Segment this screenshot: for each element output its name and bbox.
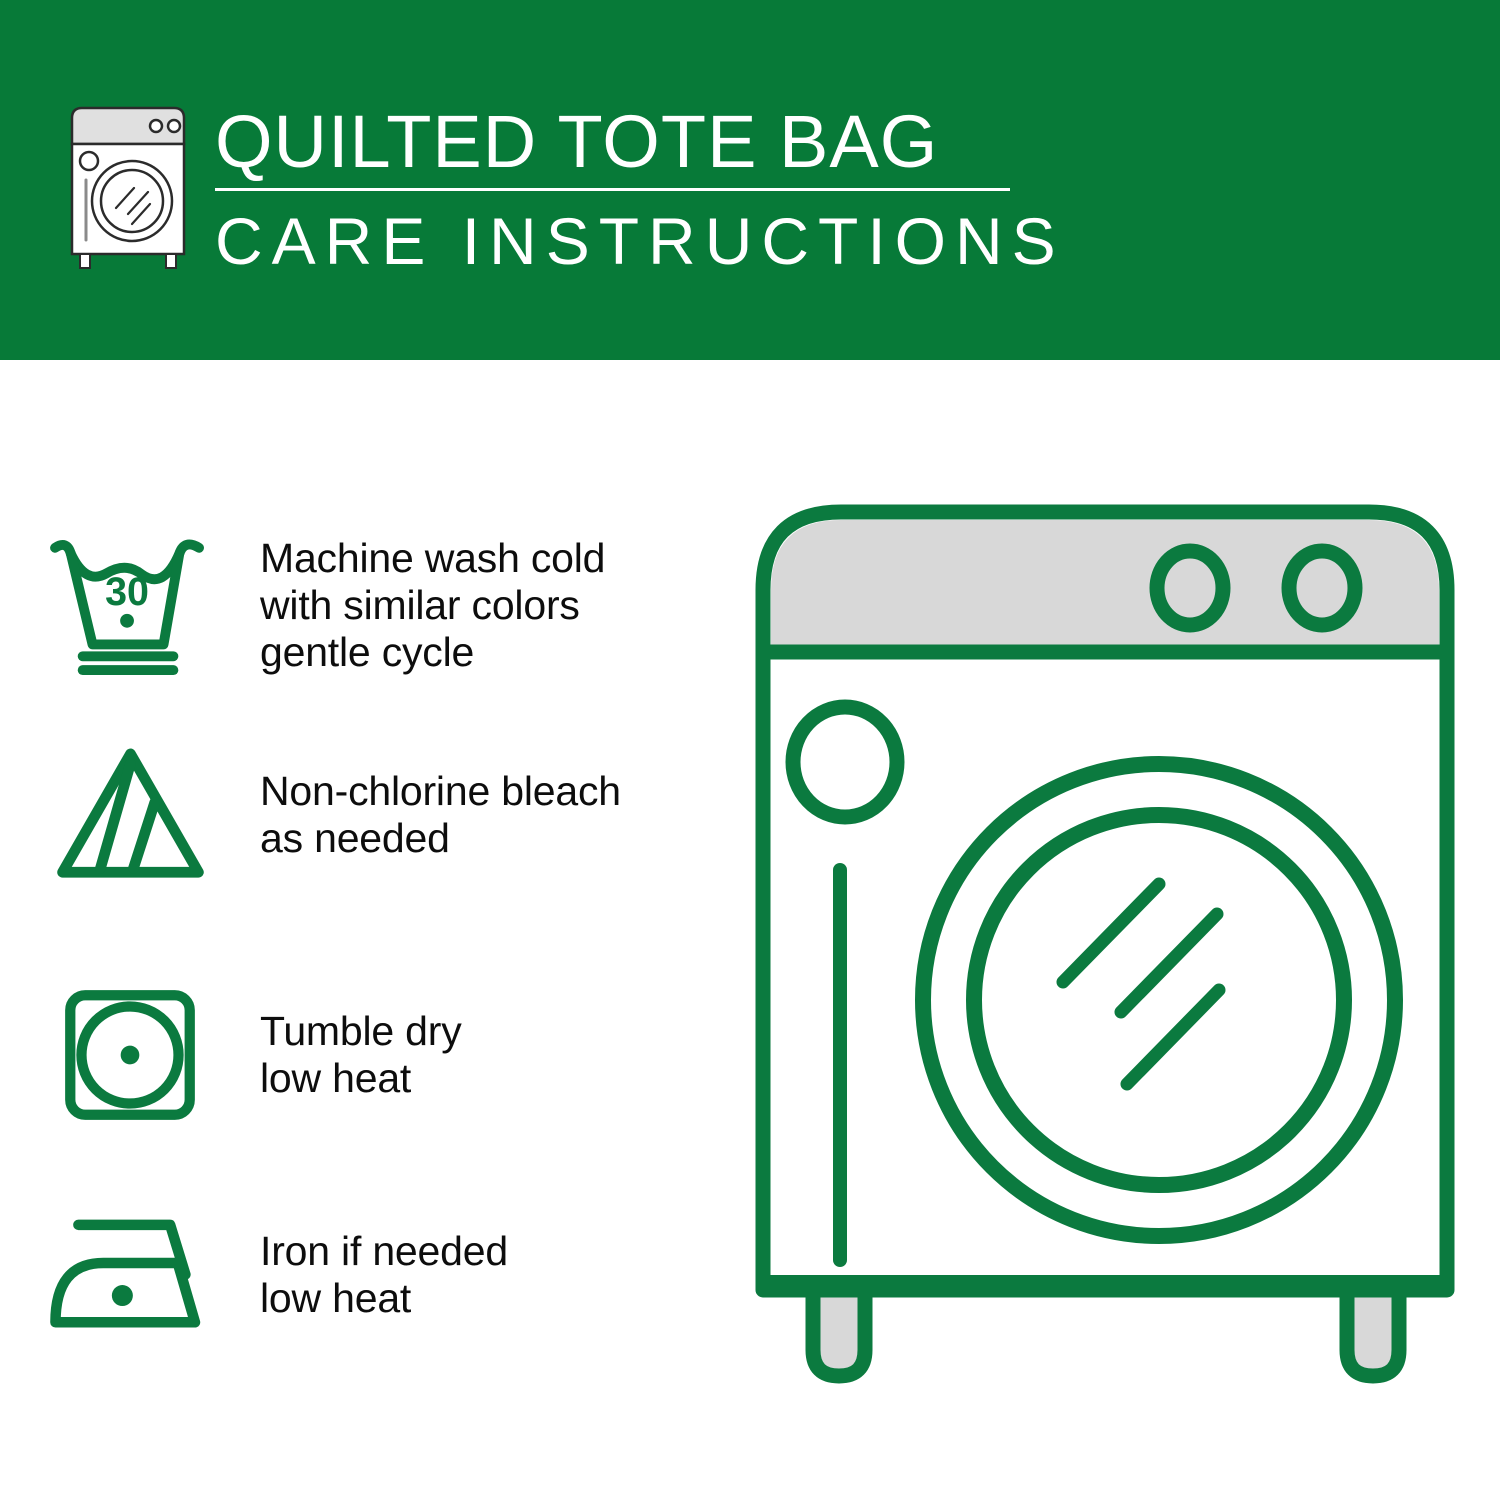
care-item-tumble-dry: Tumble dry low heat <box>0 970 730 1140</box>
care-item-bleach: Non-chlorine bleach as needed <box>0 730 730 900</box>
wash-temp-value: 30 <box>105 570 149 614</box>
wash-basin-30-gentle-icon: 30 <box>0 534 260 677</box>
leg-right <box>1347 1290 1399 1376</box>
header-text-group: QUILTED TOTE BAG CARE INSTRUCTIONS <box>215 100 1015 279</box>
control-knob <box>1289 551 1355 625</box>
care-instructions-page: QUILTED TOTE BAG CARE INSTRUCTIONS <box>0 0 1500 1500</box>
care-item-iron: Iron if needed low heat <box>0 1195 730 1355</box>
care-instruction-list: 30 Machine wash cold with similar colors… <box>0 360 730 1500</box>
control-knob <box>1157 551 1223 625</box>
non-chlorine-bleach-triangle-icon <box>0 742 260 888</box>
header-content: QUILTED TOTE BAG CARE INSTRUCTIONS <box>0 0 1500 360</box>
header-banner: QUILTED TOTE BAG CARE INSTRUCTIONS <box>0 0 1500 360</box>
title-divider <box>215 188 1010 191</box>
care-item-iron-label: Iron if needed low heat <box>260 1228 508 1322</box>
tumble-dry-low-icon <box>0 985 260 1125</box>
washing-machine-illustration <box>735 470 1475 1430</box>
washing-machine-icon <box>58 104 198 272</box>
page-subtitle: CARE INSTRUCTIONS <box>215 203 1015 279</box>
iron-low-heat-icon <box>0 1215 260 1335</box>
care-item-wash-label: Machine wash cold with similar colors ge… <box>260 535 605 676</box>
care-item-wash: 30 Machine wash cold with similar colors… <box>0 510 730 700</box>
page-title: QUILTED TOTE BAG <box>215 100 1015 184</box>
leg-left <box>813 1290 865 1376</box>
care-item-bleach-label: Non-chlorine bleach as needed <box>260 768 621 862</box>
care-item-tumble-dry-label: Tumble dry low heat <box>260 1008 462 1102</box>
